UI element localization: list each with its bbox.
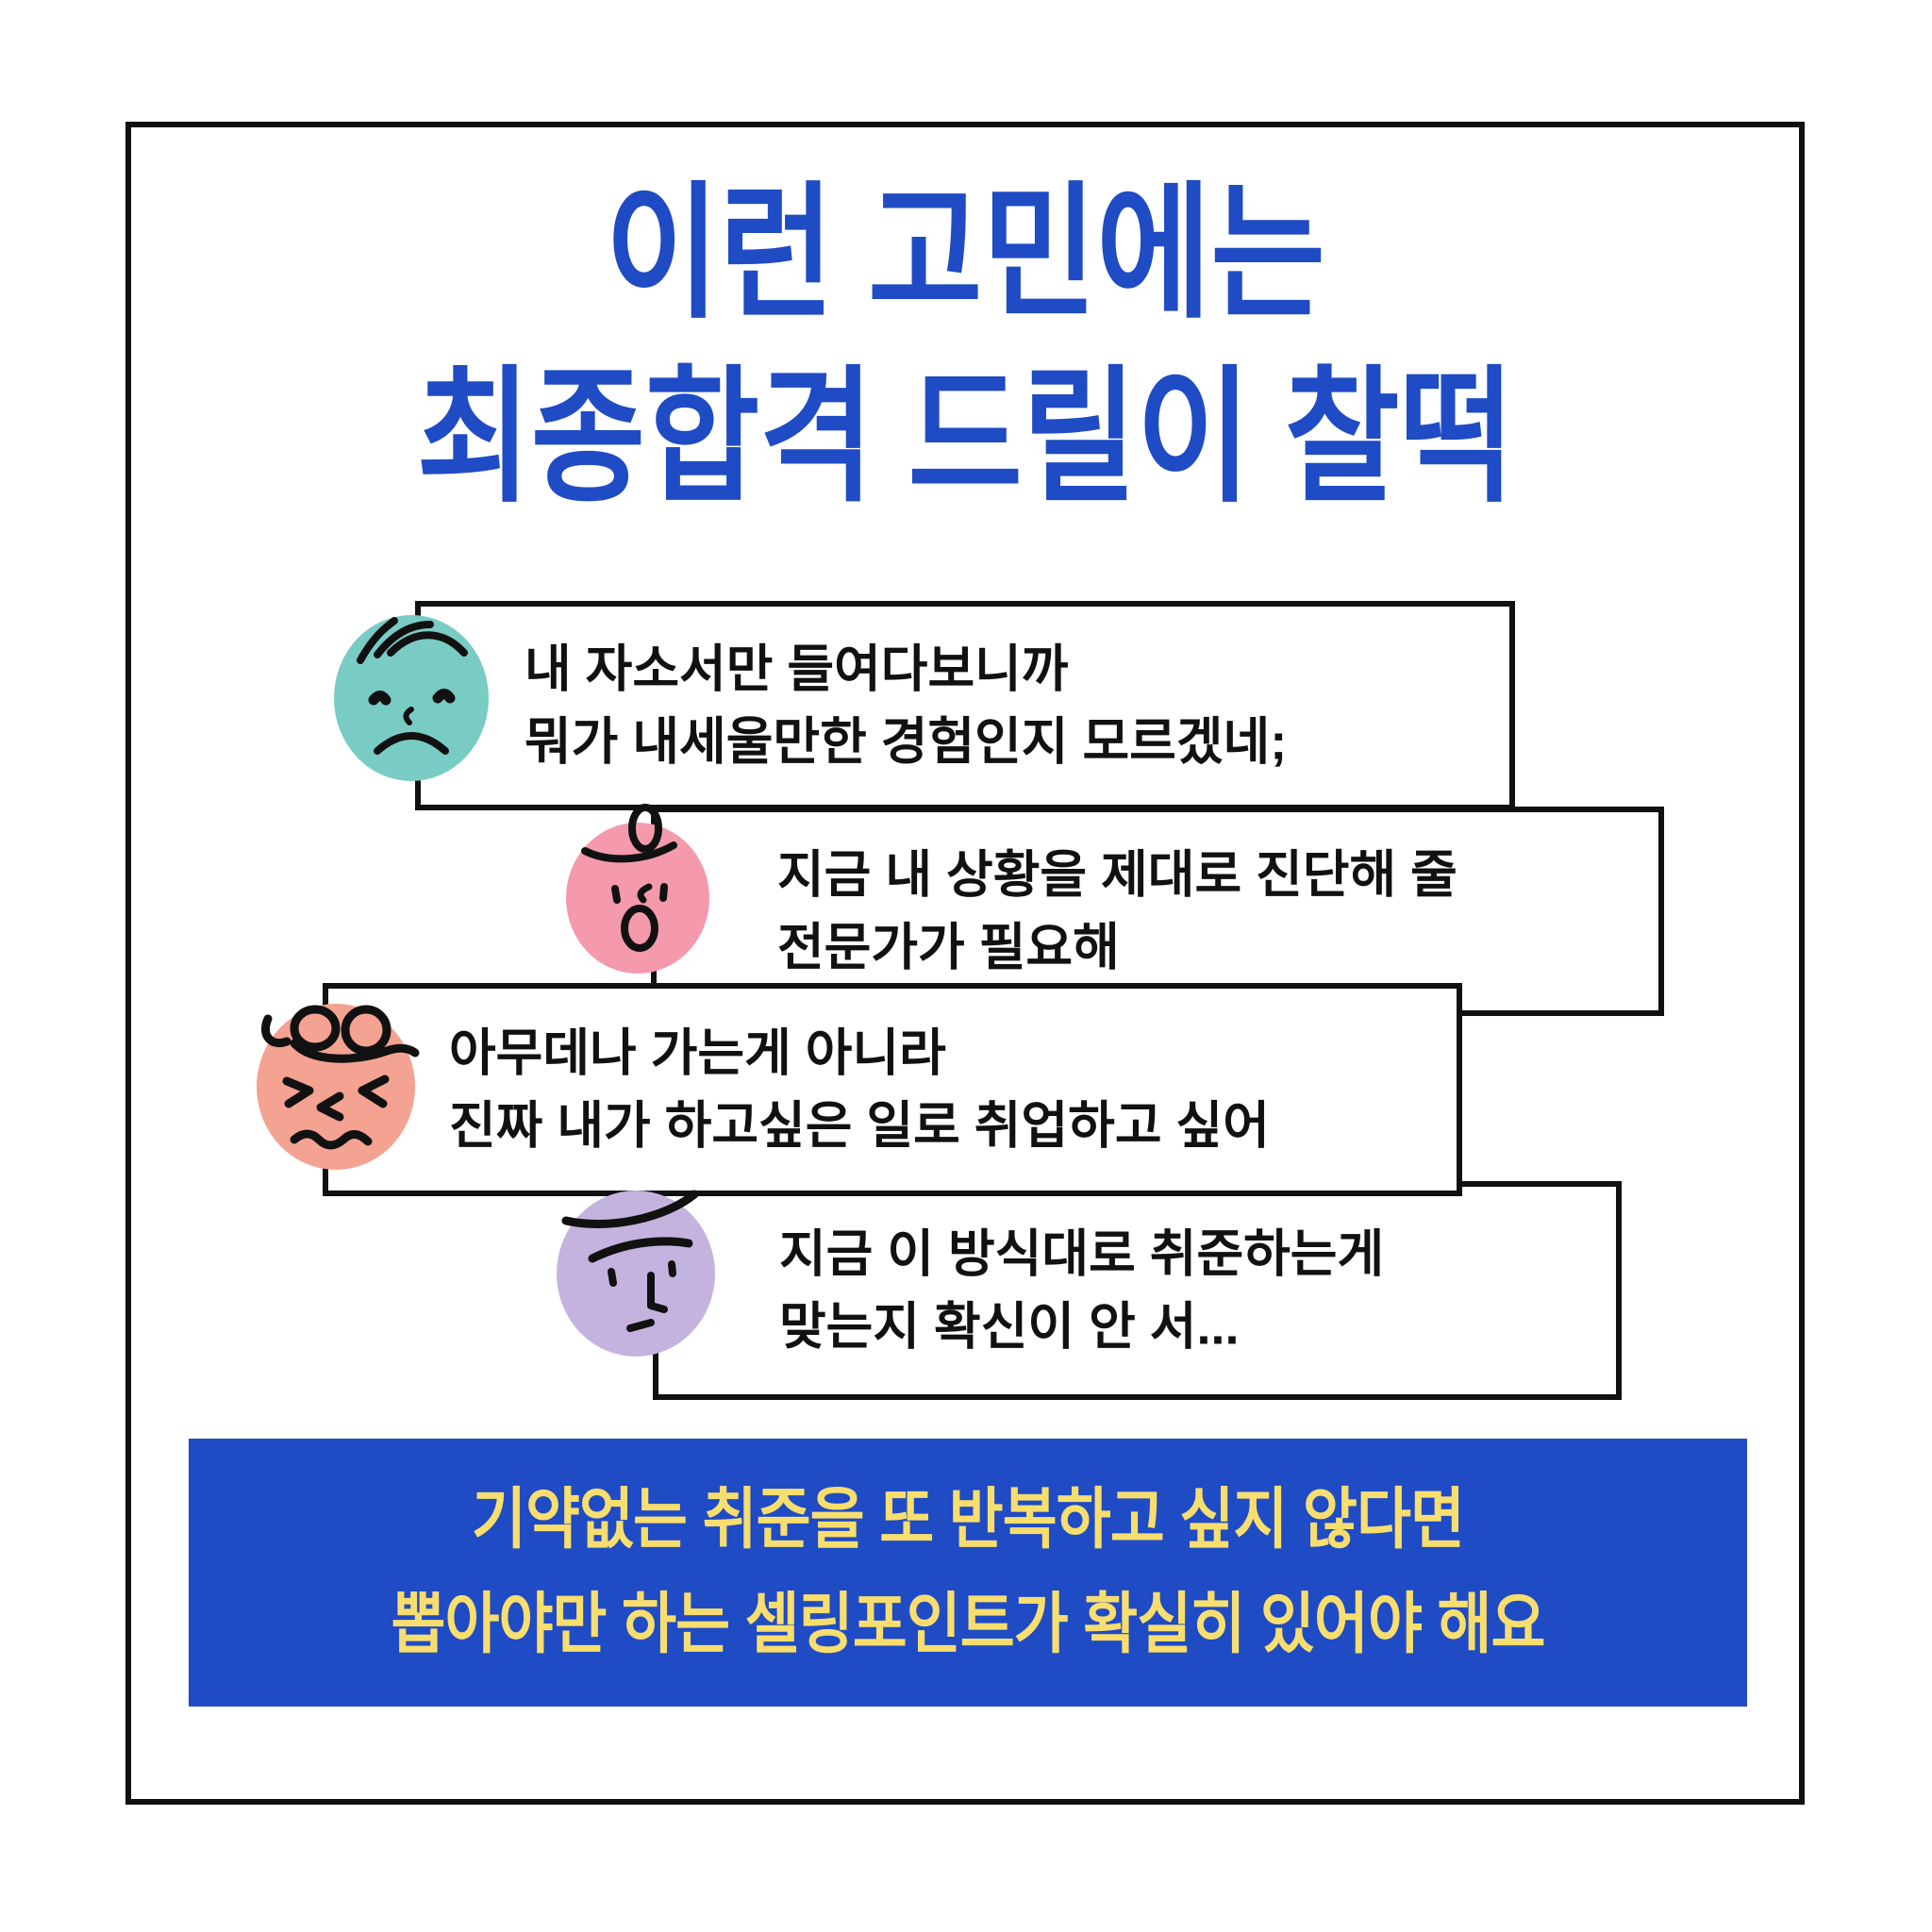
bubble-4-line-2: 맞는지 확신이 안 서... [779,1291,1384,1363]
speech-bubble-4: 지금 이 방식대로 취준하는게 맞는지 확신이 안 서... [653,1181,1622,1400]
bubble-2-line-2: 전문가가 필요해 [777,911,1457,984]
page-title: 이런 고민에는 최종합격 드릴이 찰떡 [125,179,1805,486]
bubble-1-line-2: 뭐가 내세울만한 경험인지 모르겠네; [525,706,1287,778]
banner-line-1: 기약없는 취준을 또 반복하고 싶지 않다면 [472,1487,1464,1554]
poster-canvas: 이런 고민에는 최종합격 드릴이 찰떡 내 자소서만 들여다보니까 뭐가 내세울… [0,0,1932,1932]
bottom-cta-banner: 기약없는 취준을 또 반복하고 싶지 않다면 뽑아야만 하는 셀링포인트가 확실… [189,1439,1747,1707]
bubble-2-line-1: 지금 내 상황을 제대로 진단해 줄 [777,839,1457,911]
speech-bubble-2-text: 지금 내 상황을 제대로 진단해 줄 전문가가 필요해 [777,839,1457,983]
speech-bubble-1: 내 자소서만 들여다보니까 뭐가 내세울만한 경험인지 모르겠네; [415,601,1515,810]
speech-bubble-4-text: 지금 이 방식대로 취준하는게 맞는지 확신이 안 서... [779,1218,1384,1362]
speech-bubble-1-text: 내 자소서만 들여다보니까 뭐가 내세울만한 경험인지 모르겠네; [525,633,1287,777]
headline-line-2: 최종합격 드릴이 찰떡 [125,339,1805,513]
banner-line-2: 뽑아야만 하는 셀링포인트가 확실히 있어야 해요 [391,1591,1544,1658]
bubble-4-line-1: 지금 이 방식대로 취준하는게 [779,1218,1384,1291]
speech-bubble-3: 아무데나 가는게 아니라 진짜 내가 하고싶은 일로 취업하고 싶어 [323,983,1462,1196]
speech-bubble-3-text: 아무데나 가는게 아니라 진짜 내가 하고싶은 일로 취업하고 싶어 [449,1017,1270,1161]
bubble-3-line-1: 아무데나 가는게 아니라 [449,1017,1270,1090]
bubble-1-line-1: 내 자소서만 들여다보니까 [525,633,1287,706]
bubble-3-line-2: 진짜 내가 하고싶은 일로 취업하고 싶어 [449,1090,1270,1162]
